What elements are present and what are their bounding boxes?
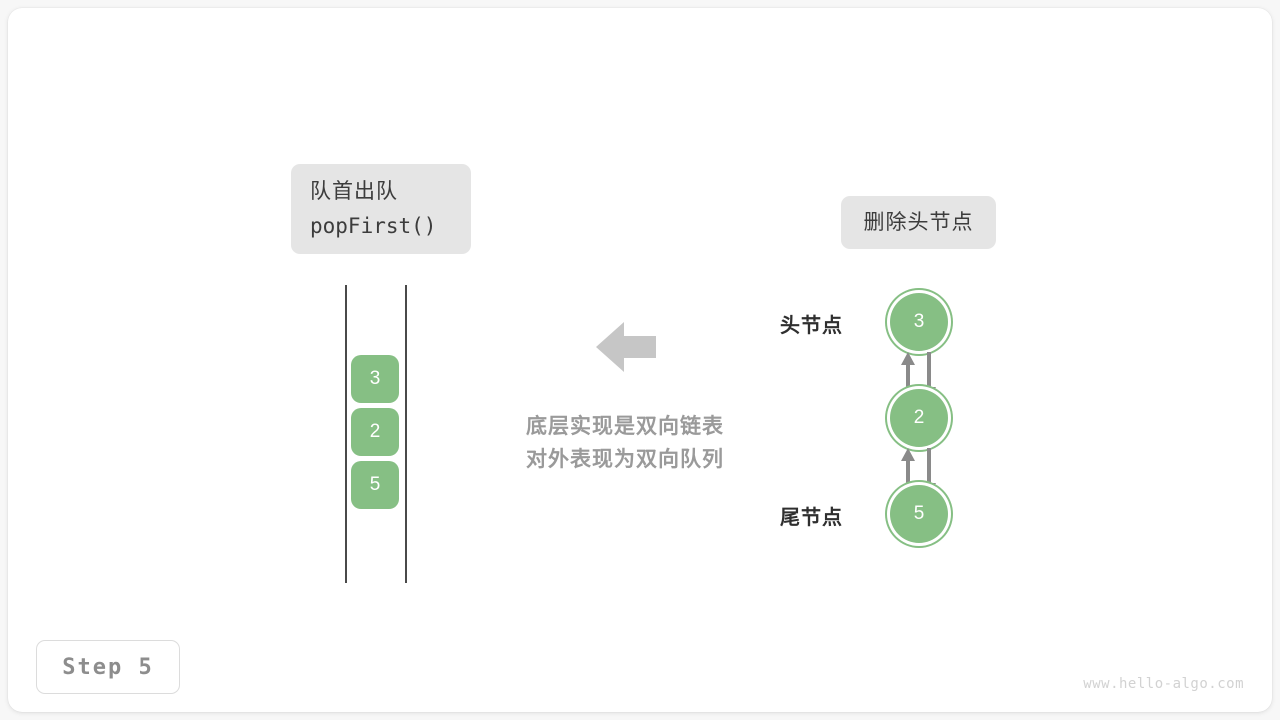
linked-list-node: 2 <box>890 389 948 447</box>
caption-line-2: 对外表现为双向队列 <box>470 443 780 476</box>
head-node-label: 头节点 <box>780 309 876 338</box>
list-operation-label: 删除头节点 <box>864 206 974 240</box>
figure-caption: 底层实现是双向链表 对外表现为双向队列 <box>470 410 780 476</box>
deque-cell: 2 <box>351 408 399 456</box>
deque-rail-right <box>405 285 407 583</box>
linked-list-node: 5 <box>890 485 948 543</box>
deque-rail-left <box>345 285 347 583</box>
tail-node-label: 尾节点 <box>780 501 876 530</box>
deque-cell: 3 <box>351 355 399 403</box>
operation-title: 队首出队 <box>310 175 398 209</box>
step-badge: Step 5 <box>36 640 180 694</box>
deque-container: 3 2 5 <box>345 285 407 583</box>
operation-method: popFirst() <box>310 209 436 243</box>
deque-cell: 5 <box>351 461 399 509</box>
figure-canvas: 队首出队 popFirst() 删除头节点 3 2 5 底层实现是双向链表 对外… <box>0 0 1280 720</box>
list-operation-label-box: 删除头节点 <box>841 196 996 249</box>
operation-label-box: 队首出队 popFirst() <box>291 164 471 254</box>
caption-line-1: 底层实现是双向链表 <box>470 410 780 443</box>
linked-list: 头节点 3 2 尾节点 <box>780 288 980 548</box>
linked-list-node: 3 <box>890 293 948 351</box>
watermark: www.hello-algo.com <box>1083 676 1244 692</box>
flow-arrow-left-icon <box>596 319 656 375</box>
